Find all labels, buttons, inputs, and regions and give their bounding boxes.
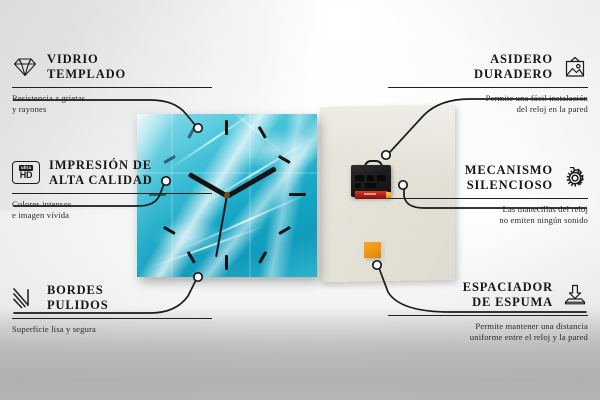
feature-header: MECANISMO SILENCIOSO [388,163,588,193]
feature-divider [388,198,588,199]
feature-header: ESPACIADOR DE ESPUMA [388,280,588,310]
feature-description: Permite una fácil instalación del reloj … [388,93,588,116]
infographic-stage: VIDRIO TEMPLADO Resistencia a grietas y … [0,0,600,400]
clock-tick-6 [225,255,228,270]
feature-header: ASIDERO DURADERO [388,52,588,82]
feature-divider [388,315,588,316]
clock-tick-12 [225,120,228,135]
ultra-hd-icon: ultra HD [12,161,40,184]
feature-divider [388,87,588,88]
gear-icon [562,167,588,189]
feature-title: ASIDERO DURADERO [474,52,553,82]
foam-spacer [364,242,381,258]
feature-description: Las manecillas del reloj no emiten ningú… [388,204,588,227]
feature-title: BORDES PULIDOS [47,283,109,313]
feature-header: ultra HD IMPRESIÓN DE ALTA CALIDAD [12,158,212,188]
mechanism-slot [365,183,376,188]
feature-header: BORDES PULIDOS [12,283,212,313]
feature-description: Colores intensos e imagen vívida [12,199,212,222]
clock-hand-cap [224,192,230,198]
mechanism-slot [355,183,361,188]
mechanism-body [351,165,391,197]
hanging-frame-icon [562,56,588,78]
down-arrow-pad-icon [562,284,588,306]
feature-header: VIDRIO TEMPLADO [12,52,212,82]
feature-mecanismo-silencioso: MECANISMO SILENCIOSO Las manecillas del … [388,163,588,226]
feature-description: Superficie lisa y segura [12,324,212,335]
clock-mechanism [351,160,391,197]
feature-title: IMPRESIÓN DE ALTA CALIDAD [49,158,153,188]
clock-tick-3 [289,193,306,196]
feature-divider [12,193,212,194]
feature-divider [12,87,212,88]
feature-title: ESPACIADOR DE ESPUMA [463,280,553,310]
ultra-hd-icon-large-label: HD [20,171,33,180]
polished-edges-icon [12,287,38,309]
feature-description: Resistencia a grietas y rayones [12,93,212,116]
diamond-icon [12,56,38,78]
feature-vidrio-templado: VIDRIO TEMPLADO Resistencia a grietas y … [12,52,212,115]
mechanism-slot [355,175,364,181]
mechanism-slot [377,175,386,181]
feature-title: MECANISMO SILENCIOSO [465,163,553,193]
battery [355,191,388,199]
feature-asidero-duradero: ASIDERO DURADERO Permite una fácil insta… [388,52,588,115]
feature-espaciador-de-espuma: ESPACIADOR DE ESPUMA Permite mantener un… [388,280,588,343]
feature-divider [12,318,212,319]
mechanism-slot [367,175,374,181]
feature-title: VIDRIO TEMPLADO [47,52,126,82]
feature-description: Permite mantener una distancia uniforme … [388,321,588,344]
battery-band [364,193,376,195]
feature-bordes-pulidos: BORDES PULIDOS Superficie lisa y segura [12,283,212,335]
feature-impresion-alta-calidad: ultra HD IMPRESIÓN DE ALTA CALIDAD Color… [12,158,212,221]
